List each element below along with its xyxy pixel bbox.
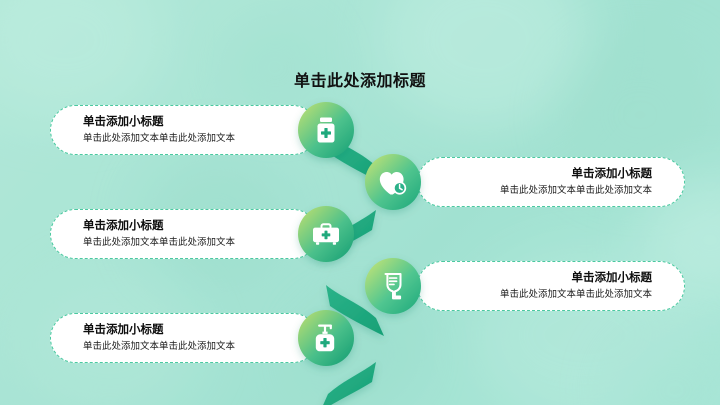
card-heading: 单击添加小标题 xyxy=(83,323,164,338)
content-card-5[interactable]: 单击添加小标题 单击此处添加文本单击此处添加文本 xyxy=(50,313,318,363)
card-body: 单击此处添加文本单击此处添加文本 xyxy=(83,340,235,354)
content-card-3[interactable]: 单击添加小标题 单击此处添加文本单击此处添加文本 xyxy=(50,209,318,259)
icon-chain xyxy=(280,88,460,388)
card-body: 单击此处添加文本单击此处添加文本 xyxy=(83,236,235,250)
card-body: 单击此处添加文本单击此处添加文本 xyxy=(83,132,235,146)
slide-canvas: 单击此处添加标题 单击添加小标题 单击此处添加文本单击此处添加文本 单击添加小标… xyxy=(0,0,720,405)
card-heading: 单击添加小标题 xyxy=(572,167,653,182)
card-body: 单击此处添加文本单击此处添加文本 xyxy=(500,184,652,198)
card-body: 单击此处添加文本单击此处添加文本 xyxy=(500,288,652,302)
card-heading: 单击添加小标题 xyxy=(83,219,164,234)
card-heading: 单击添加小标题 xyxy=(83,115,164,130)
card-heading: 单击添加小标题 xyxy=(572,271,653,286)
content-card-1[interactable]: 单击添加小标题 单击此处添加文本单击此处添加文本 xyxy=(50,105,318,155)
